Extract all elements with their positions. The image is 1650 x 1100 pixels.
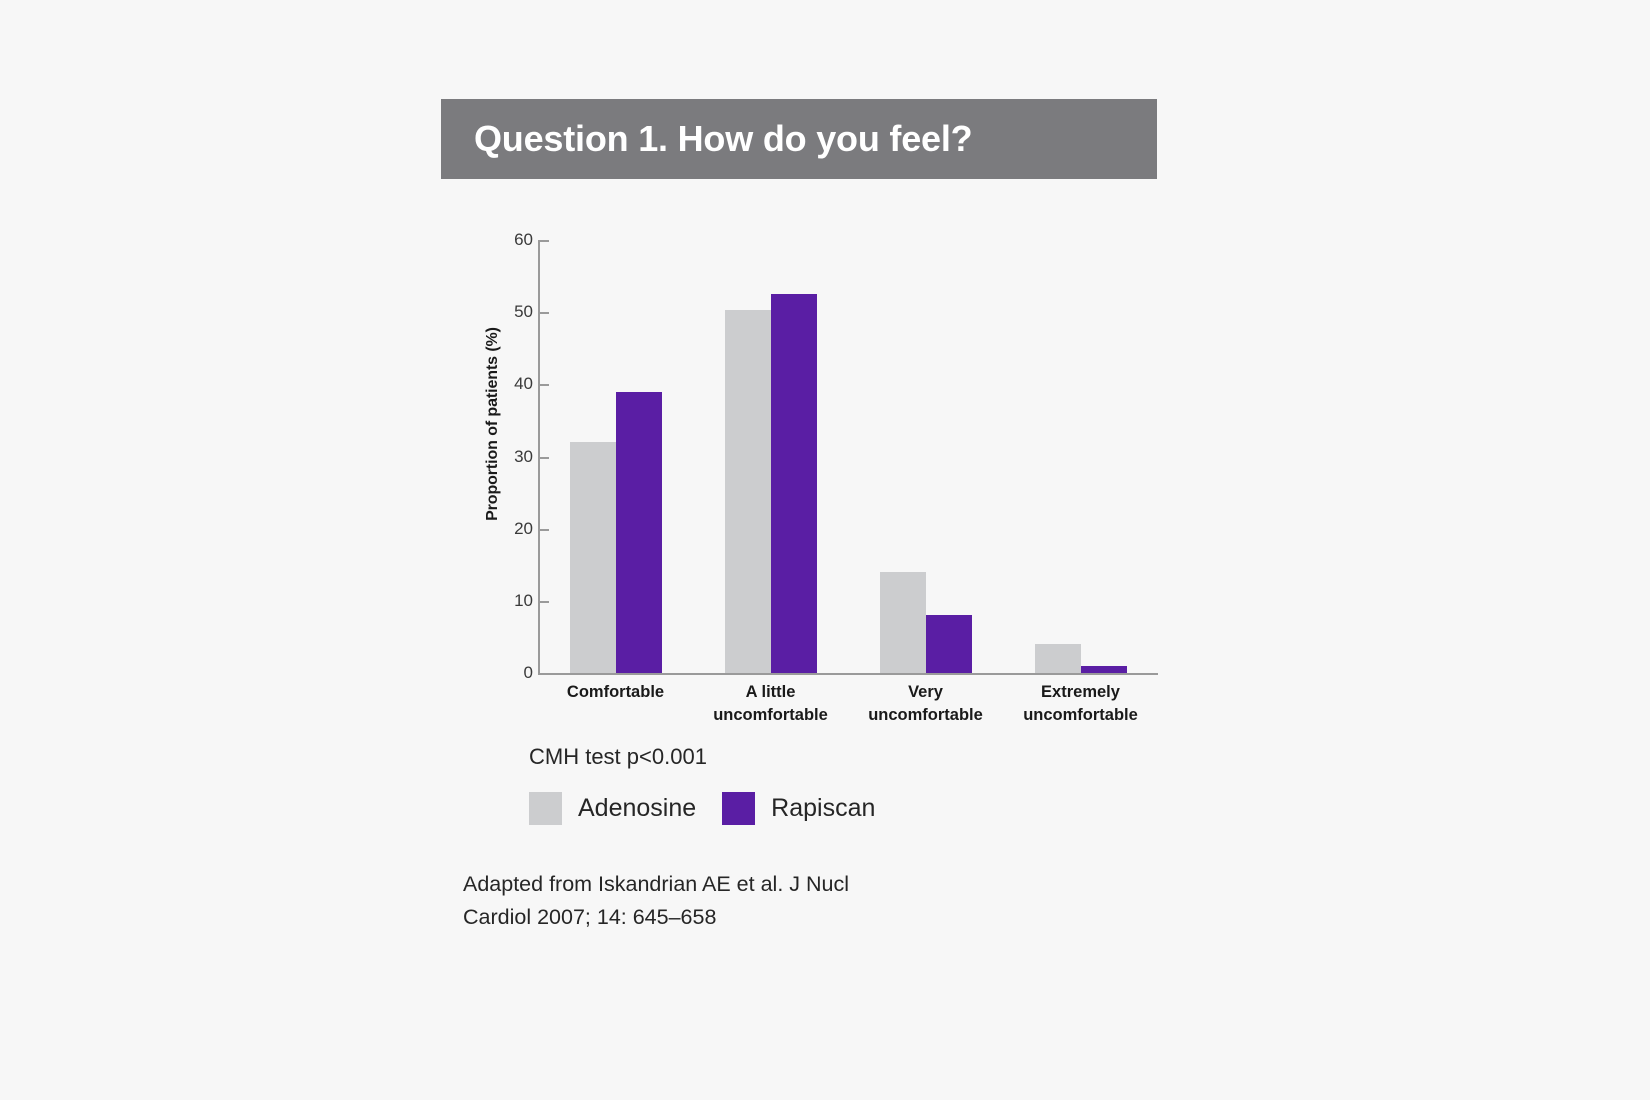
y-axis-tick [540,529,549,531]
y-axis-title: Proportion of patients (%) [484,294,502,554]
x-axis-label-1: A littleuncomfortable [693,681,848,727]
x-axis-label-line: Comfortable [538,681,693,704]
x-axis-label-line: uncomfortable [848,704,1003,727]
bar-rapiscan-2 [926,615,972,673]
x-axis-label-0: Comfortable [538,681,693,704]
title-banner: Question 1. How do you feel? [441,99,1157,179]
chart-legend: AdenosineRapiscan [529,792,875,825]
legend-item-adenosine[interactable]: Adenosine [529,792,696,825]
y-axis-tick-label: 10 [493,591,533,611]
bar-rapiscan-1 [771,294,817,673]
y-axis-tick-label: 60 [493,230,533,250]
y-axis-tick-label: 40 [493,374,533,394]
x-axis-label-line: Extremely [1003,681,1158,704]
source-line-2: Cardiol 2007; 14: 645–658 [463,901,983,934]
bar-rapiscan-0 [616,392,662,673]
x-axis-label-line: Very [848,681,1003,704]
bar-rapiscan-3 [1081,666,1127,673]
y-axis-tick-label: 20 [493,519,533,539]
legend-swatch-adenosine [529,792,562,825]
cmh-test-note: CMH test p<0.001 [529,744,707,770]
y-axis-tick [540,312,549,314]
bar-adenosine-3 [1035,644,1081,673]
source-citation: Adapted from Iskandrian AE et al. J Nucl… [463,868,983,933]
y-axis-tick-label: 30 [493,447,533,467]
y-axis-tick-label: 50 [493,302,533,322]
legend-label-adenosine: Adenosine [578,794,696,823]
bar-adenosine-2 [880,572,926,673]
y-axis-tick [540,601,549,603]
x-axis-label-3: Extremelyuncomfortable [1003,681,1158,727]
y-axis-tick [540,240,549,242]
page-title: Question 1. How do you feel? [441,118,972,160]
bar-adenosine-0 [570,442,616,673]
y-axis-tick [540,457,549,459]
y-axis-tick [540,384,549,386]
x-axis-label-line: uncomfortable [693,704,848,727]
x-axis-label-2: Veryuncomfortable [848,681,1003,727]
x-axis-line [538,673,1158,675]
legend-item-rapiscan[interactable]: Rapiscan [722,792,875,825]
x-axis-label-line: uncomfortable [1003,704,1158,727]
bar-chart: Proportion of patients (%) 0102030405060… [455,225,1175,745]
source-line-1: Adapted from Iskandrian AE et al. J Nucl [463,868,983,901]
bar-adenosine-1 [725,310,771,673]
y-axis-tick-label: 0 [493,663,533,683]
slide-canvas: Question 1. How do you feel? Proportion … [0,0,1650,1100]
legend-label-rapiscan: Rapiscan [771,794,875,823]
legend-swatch-rapiscan [722,792,755,825]
x-axis-label-line: A little [693,681,848,704]
